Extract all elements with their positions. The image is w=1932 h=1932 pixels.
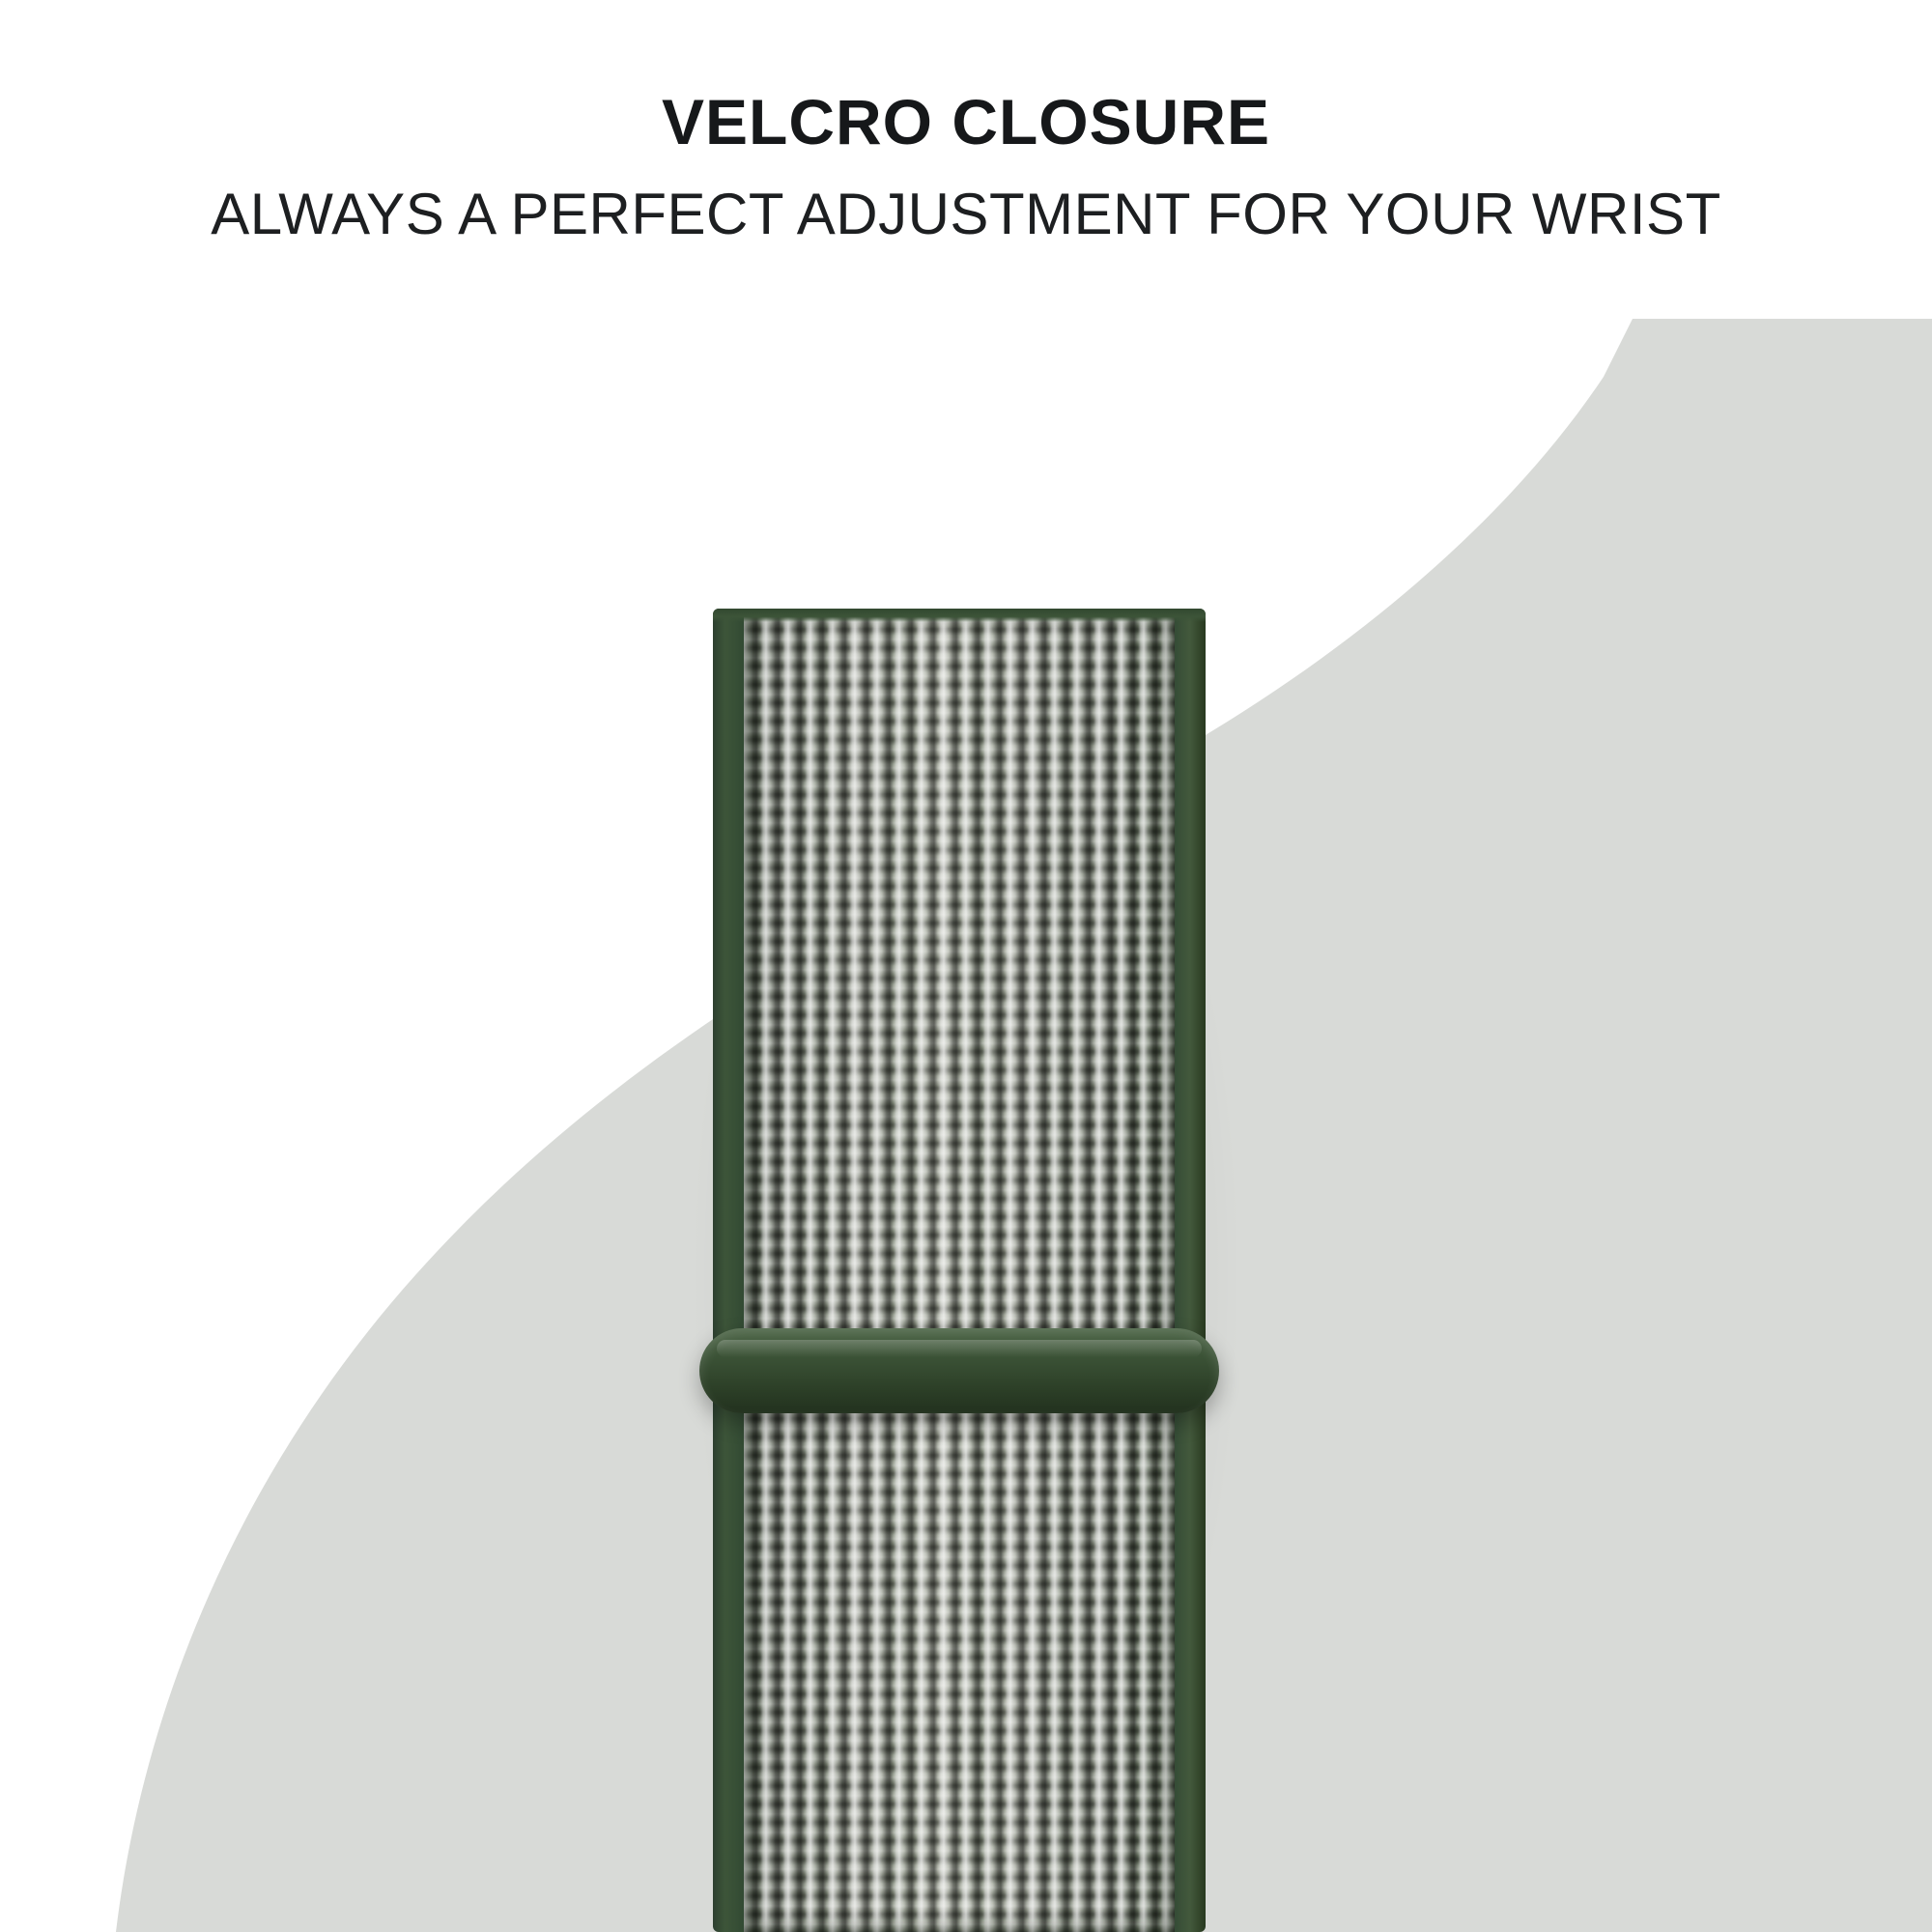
product-banner: VELCRO CLOSURE ALWAYS A PERFECT ADJUSTME…: [0, 0, 1932, 1932]
woven-nylon-band: [713, 609, 1206, 1932]
page-subtitle: ALWAYS A PERFECT ADJUSTMENT FOR YOUR WRI…: [0, 184, 1932, 244]
velcro-keeper-loop: [699, 1328, 1219, 1413]
band-weave-texture: [738, 609, 1180, 1932]
band-edge-left: [713, 609, 744, 1932]
band-top-cap: [713, 609, 1206, 622]
band-edge-right: [1175, 609, 1206, 1932]
page-title: VELCRO CLOSURE: [0, 89, 1932, 156]
